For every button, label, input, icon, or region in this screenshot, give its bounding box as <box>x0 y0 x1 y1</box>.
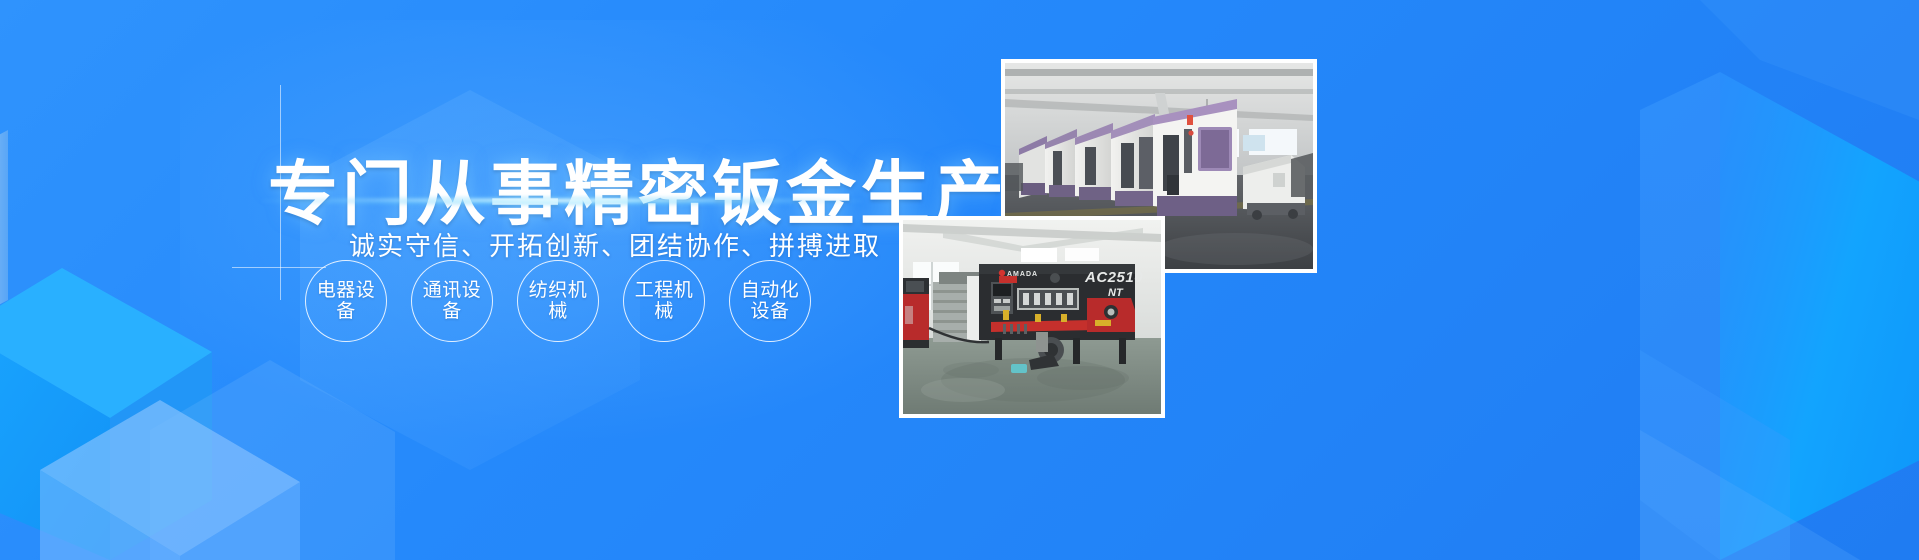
svg-text:AC2510: AC2510 <box>1084 269 1143 286</box>
cube-cyan-left-side <box>110 352 212 560</box>
category-badge[interactable]: 自动化设备 <box>729 260 811 342</box>
hex-cyan-right <box>1720 72 1919 560</box>
svg-text:NT: NT <box>1108 287 1124 299</box>
category-badge[interactable]: 通讯设备 <box>411 260 493 342</box>
cube-light-left-side <box>180 482 300 560</box>
category-badge-label: 自动化设备 <box>740 280 800 323</box>
cube-cyan-left-face <box>0 330 110 560</box>
hex-right-faint <box>1640 430 1860 560</box>
light-streak-icon <box>262 196 862 206</box>
hero-banner: 专门从事精密钣金生产加工 诚实守信、开拓创新、团结协作、拼搏进取 电器设备 通讯… <box>0 0 1919 560</box>
category-badge[interactable]: 工程机械 <box>623 260 705 342</box>
hex-faint-top-right <box>1700 0 1919 120</box>
category-badge-label: 工程机械 <box>634 280 694 323</box>
category-badge-label: 纺织机械 <box>528 280 588 323</box>
category-badge-label: 电器设备 <box>316 280 376 323</box>
hex-right-shadow <box>1640 350 1790 560</box>
category-badge-list: 电器设备 通讯设备 纺织机械 工程机械 自动化设备 <box>305 260 811 342</box>
category-badge-label: 通讯设备 <box>422 280 482 323</box>
cube-light-left-face <box>40 470 180 560</box>
cube-cyan-left-top <box>0 268 212 418</box>
slab-pale-left <box>0 130 8 320</box>
subtitle: 诚实守信、开拓创新、团结协作、拼搏进取 <box>349 231 881 262</box>
photo-amada-turret-punch-press: AMADA AC2510 NT <box>899 216 1165 418</box>
category-badge[interactable]: 纺织机械 <box>517 260 599 342</box>
cube-light-left-top <box>40 400 300 556</box>
hex-cyan-right-dark <box>1640 72 1720 560</box>
category-badge[interactable]: 电器设备 <box>305 260 387 342</box>
hex-faint-lower-left <box>150 360 395 560</box>
